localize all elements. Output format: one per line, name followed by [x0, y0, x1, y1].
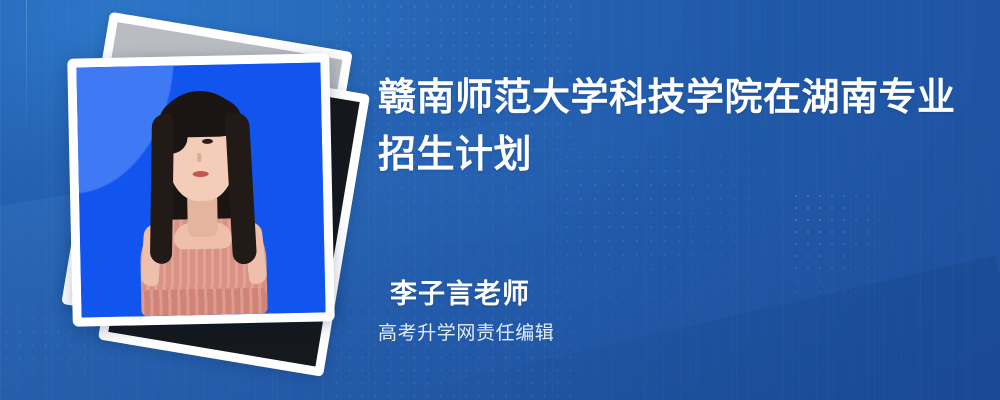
author-role: 高考升学网责任编辑	[378, 318, 554, 345]
portrait-hair-left	[150, 114, 174, 264]
portrait-garment-waist	[141, 288, 268, 317]
photo-frame-main	[67, 53, 335, 326]
avatar	[99, 81, 304, 317]
photo-backdrop	[76, 62, 325, 317]
author-name: 李子言老师	[390, 272, 530, 311]
banner-text-column: 赣南师范大学科技学院在湖南专业 招生计划 李子言老师 高考升学网责任编辑	[378, 0, 978, 400]
article-header-banner: 赣南师范大学科技学院在湖南专业 招生计划 李子言老师 高考升学网责任编辑	[0, 0, 1000, 400]
background-accent-line	[26, 0, 27, 150]
photo-stack	[40, 22, 370, 372]
page-title: 赣南师范大学科技学院在湖南专业 招生计划	[378, 70, 958, 184]
page-title-line-1: 赣南师范大学科技学院在湖南专业	[378, 70, 958, 127]
portrait-nose	[197, 153, 201, 162]
page-title-line-2: 招生计划	[378, 127, 958, 184]
